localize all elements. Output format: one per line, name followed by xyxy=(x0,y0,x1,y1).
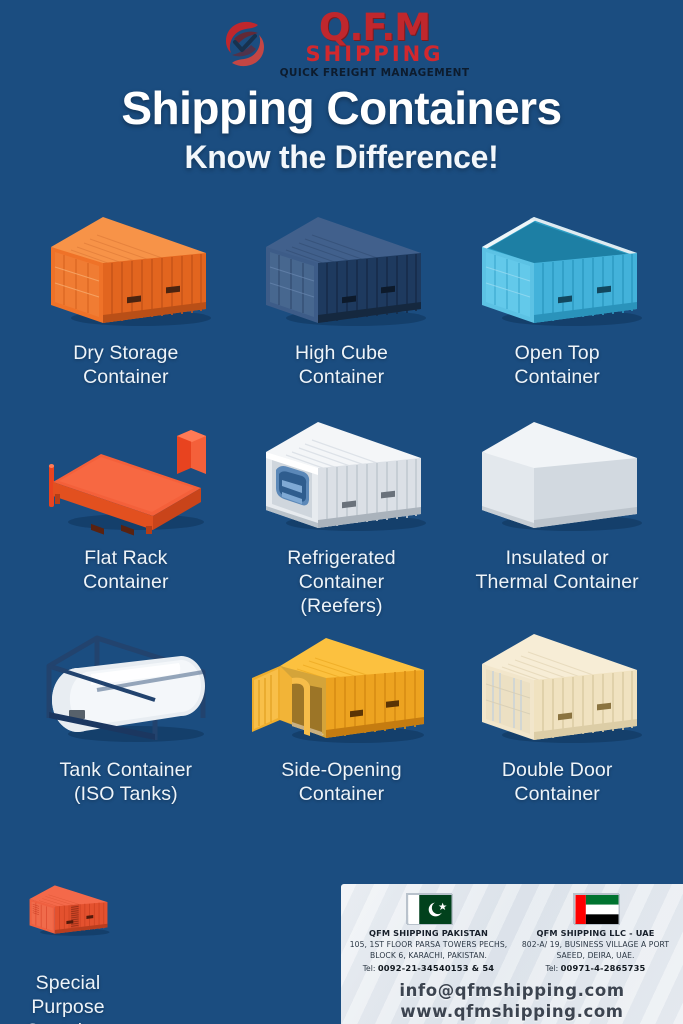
office-pakistan: QFM SHIPPING PAKISTAN 105, 1ST FLOOR PAR… xyxy=(345,893,512,973)
tel-label: Tel: xyxy=(545,964,558,973)
container-flat-rack-icon xyxy=(18,410,234,538)
qfm-swirl-logo-icon xyxy=(214,13,276,75)
infographic-poster: Q.F.M SHIPPING QUICK FREIGHT MANAGEMENT … xyxy=(0,0,683,1024)
container-insulated-icon xyxy=(449,410,665,538)
page-title: Shipping Containers xyxy=(0,84,683,134)
container-card-tank[interactable]: Tank Container (ISO Tanks) xyxy=(18,622,234,827)
container-card-high-cube[interactable]: High Cube Container xyxy=(234,205,450,410)
container-card-open-top[interactable]: Open Top Container xyxy=(449,205,665,410)
grid-row: Dry Storage Container xyxy=(18,205,665,410)
container-high-cube-icon xyxy=(234,205,450,333)
office-name: QFM SHIPPING LLC - UAE xyxy=(515,928,676,938)
office-address-line-1: 802-A/ 19, BUSINESS VILLAGE A PORT xyxy=(515,940,676,951)
tel-number: 0092-21-34540153 & 54 xyxy=(378,963,494,973)
offices-list: QFM SHIPPING PAKISTAN 105, 1ST FLOOR PAR… xyxy=(341,884,683,973)
container-card-side-opening[interactable]: Side-Opening Container xyxy=(234,622,450,827)
page-subtitle: Know the Difference! xyxy=(0,139,683,176)
logo-brand-name: Q.F.M xyxy=(319,9,430,46)
container-grid: Dry Storage Container xyxy=(18,205,665,827)
office-name: QFM SHIPPING PAKISTAN xyxy=(348,928,509,938)
container-caption: Open Top Container xyxy=(514,341,599,389)
container-card-insulated[interactable]: Insulated or Thermal Container xyxy=(449,410,665,622)
container-open-top-icon xyxy=(449,205,665,333)
container-caption: Insulated or Thermal Container xyxy=(476,546,639,594)
brand-logo: Q.F.M SHIPPING QUICK FREIGHT MANAGEMENT xyxy=(0,6,683,82)
office-telephone: Tel: 0092-21-34540153 & 54 xyxy=(348,963,509,973)
contact-links: info@qfmshipping.com www.qfmshipping.com xyxy=(341,980,683,1022)
logo-tagline: QUICK FREIGHT MANAGEMENT xyxy=(280,68,470,79)
container-side-opening-icon xyxy=(234,622,450,750)
tel-label: Tel: xyxy=(363,964,376,973)
container-card-special-purpose[interactable]: Special Purpose Container xyxy=(18,855,118,1024)
container-tank-icon xyxy=(18,622,234,750)
container-card-double-door[interactable]: Double Door Container xyxy=(449,622,665,827)
container-reefer-icon xyxy=(234,410,450,538)
office-telephone: Tel: 00971-4-2865735 xyxy=(515,963,676,973)
grid-row: Special Purpose Container xyxy=(18,855,318,1024)
container-caption: High Cube Container xyxy=(295,341,388,389)
container-caption: Special Purpose Container xyxy=(18,971,118,1024)
contact-website[interactable]: www.qfmshipping.com xyxy=(341,1001,683,1022)
container-card-flat-rack[interactable]: Flat Rack Container xyxy=(18,410,234,622)
logo-brand-subname: SHIPPING xyxy=(306,44,444,65)
uae-flag-icon xyxy=(573,893,619,924)
container-caption: Side-Opening Container xyxy=(281,758,401,806)
tel-number: 00971-4-2865735 xyxy=(561,963,646,973)
contact-email[interactable]: info@qfmshipping.com xyxy=(341,980,683,1001)
office-address-line-1: 105, 1ST FLOOR PARSA TOWERS PECHS, xyxy=(348,940,509,951)
container-caption: Double Door Container xyxy=(502,758,613,806)
container-caption: Dry Storage Container xyxy=(73,341,178,389)
container-caption: Tank Container (ISO Tanks) xyxy=(60,758,193,806)
office-address-line-2: SAEED, DEIRA, UAE. xyxy=(515,951,676,962)
container-double-door-icon xyxy=(449,622,665,750)
contact-card: QFM SHIPPING PAKISTAN 105, 1ST FLOOR PAR… xyxy=(341,884,683,1024)
container-card-dry-storage[interactable]: Dry Storage Container xyxy=(18,205,234,410)
container-card-refrigerated[interactable]: Refrigerated Container (Reefers) xyxy=(234,410,450,622)
pakistan-flag-icon xyxy=(406,893,452,924)
container-closed-icon xyxy=(18,205,234,333)
grid-row: Flat Rack Container xyxy=(18,410,665,622)
title-block: Shipping Containers Know the Difference! xyxy=(0,84,683,176)
grid-row: Tank Container (ISO Tanks) xyxy=(18,622,665,827)
container-caption: Refrigerated Container (Reefers) xyxy=(287,546,396,619)
container-caption: Flat Rack Container xyxy=(83,546,168,594)
office-uae: QFM SHIPPING LLC - UAE 802-A/ 19, BUSINE… xyxy=(512,893,679,973)
container-special-purpose-icon xyxy=(18,855,118,963)
office-address-line-2: BLOCK 6, KARACHI, PAKISTAN. xyxy=(348,951,509,962)
